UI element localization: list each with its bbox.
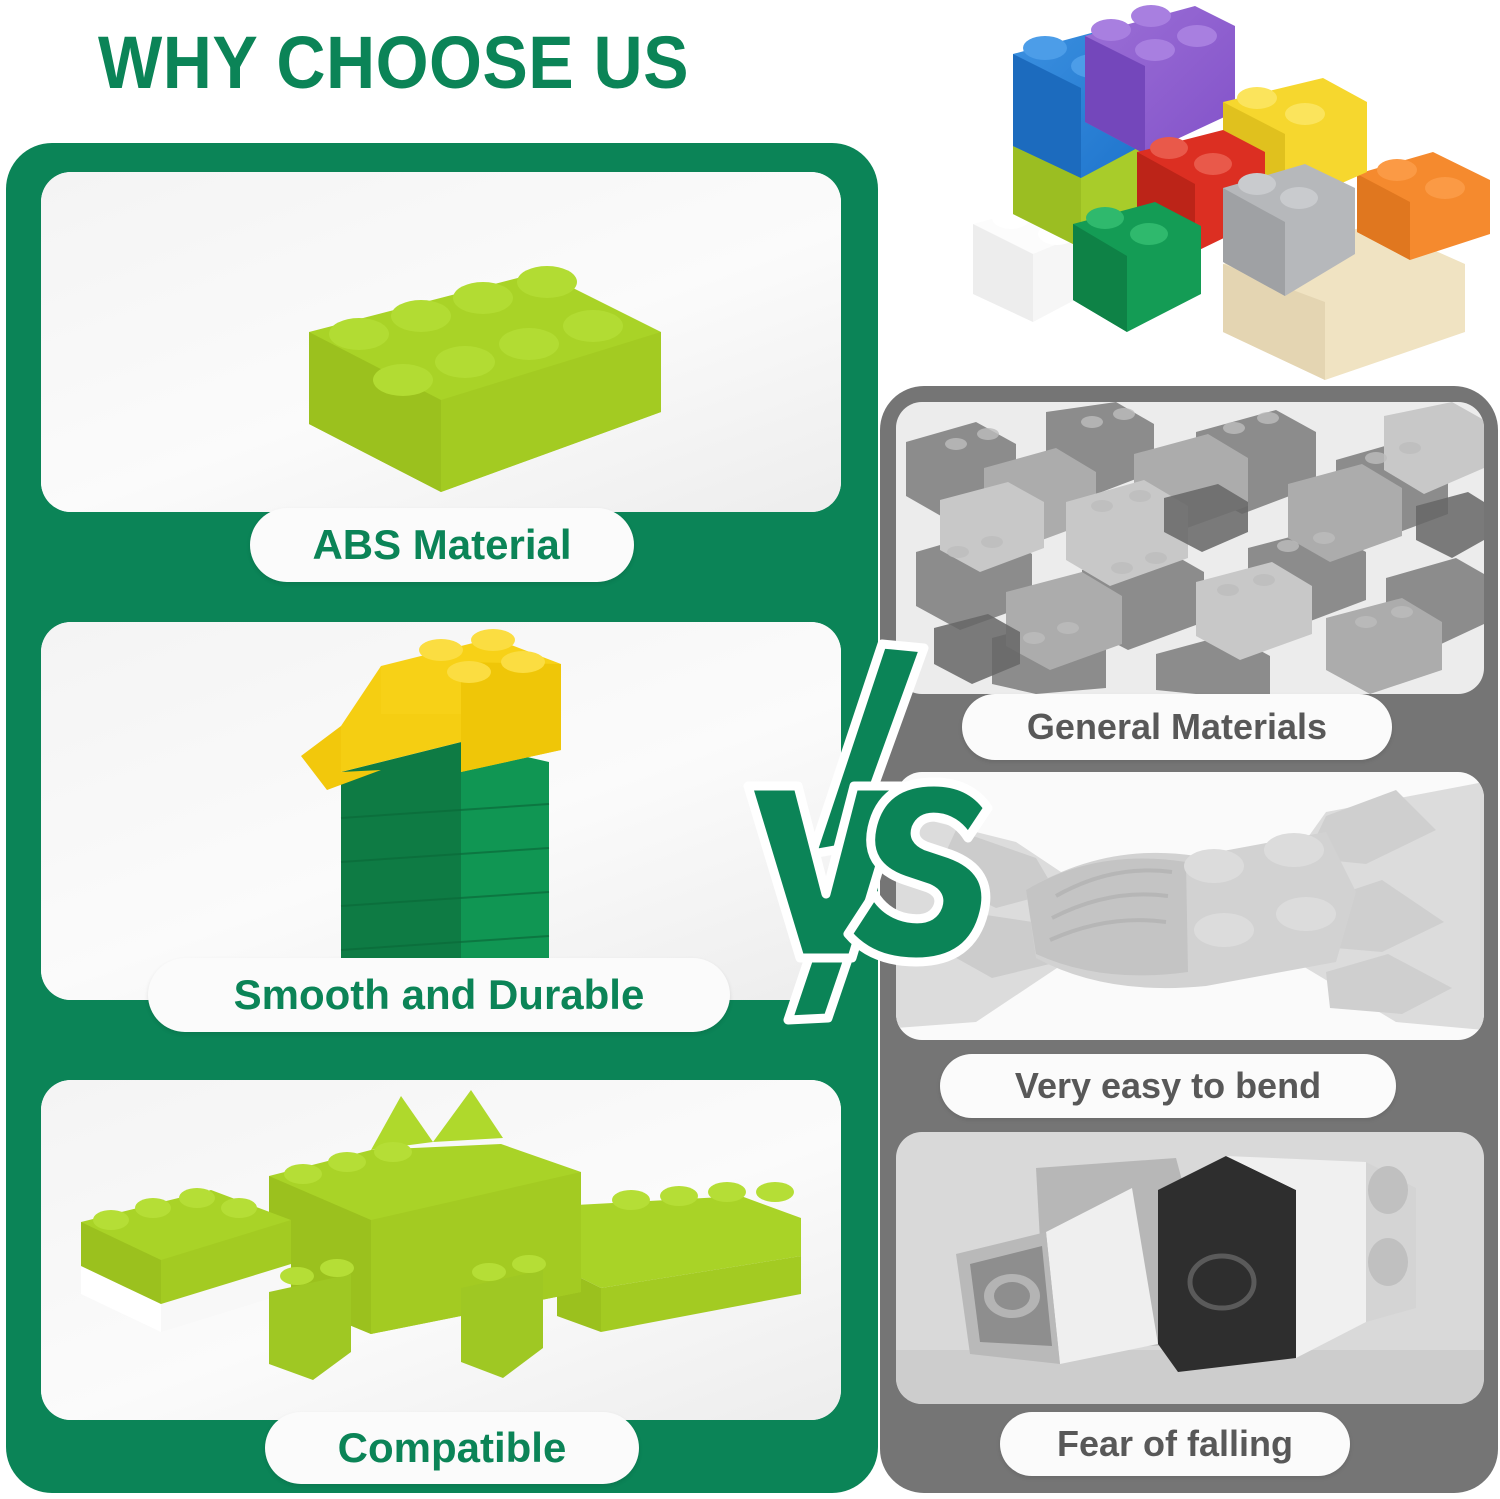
- ours-card-compatible: [41, 1080, 841, 1420]
- crocodile-build-photo: [41, 1080, 841, 1420]
- theirs-card-general-materials: [896, 402, 1484, 694]
- ours-card-abs-material: [41, 172, 841, 512]
- theirs-card-easy-to-bend: [896, 772, 1484, 1040]
- brick-purple: [1085, 5, 1235, 154]
- ours-label-smooth-durable: Smooth and Durable: [148, 958, 730, 1032]
- brick-green: [1073, 202, 1201, 332]
- theirs-label-fear-of-falling: Fear of falling: [1000, 1412, 1350, 1476]
- ours-label-compatible: Compatible: [265, 1412, 639, 1484]
- theirs-label-easy-to-bend: Very easy to bend: [940, 1054, 1396, 1118]
- giraffe-build-photo: [41, 622, 841, 1000]
- abs-material-photo: [41, 172, 841, 512]
- ours-card-smooth-durable: [41, 622, 841, 1000]
- theirs-label-general-materials: General Materials: [962, 694, 1392, 760]
- brick-pile-icon: [896, 402, 1484, 694]
- giraffe-build-icon: [41, 622, 841, 1000]
- ours-label-abs-material: ABS Material: [250, 508, 634, 582]
- brick-2x4-icon: [41, 172, 841, 512]
- page-title: WHY CHOOSE US: [98, 26, 689, 100]
- hero-brick-cluster-image: [905, 2, 1490, 380]
- hands-bending-brick-icon: [896, 772, 1484, 1040]
- infographic-canvas: WHY CHOOSE US: [0, 0, 1500, 1499]
- theirs-card-fear-of-falling: [896, 1132, 1484, 1404]
- falling-bricks-icon: [896, 1132, 1484, 1404]
- crocodile-build-icon: [41, 1080, 841, 1420]
